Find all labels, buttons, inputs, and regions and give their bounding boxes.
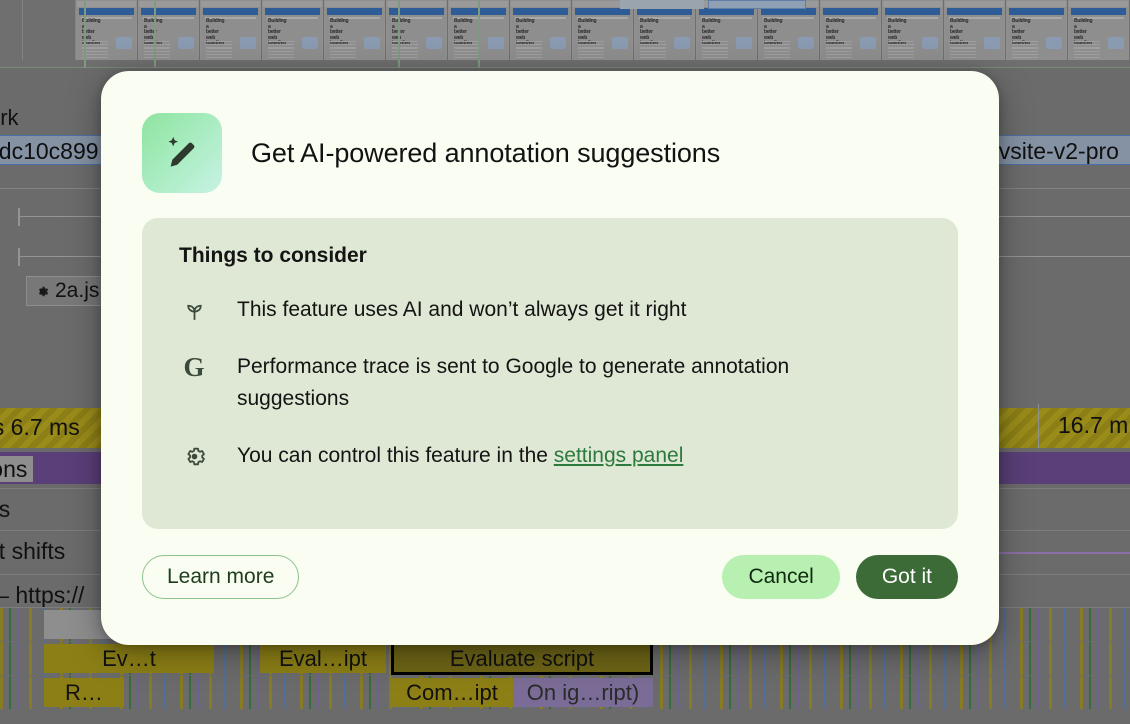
list-item: This feature uses AI and won’t always ge… <box>179 294 921 326</box>
filmstrip-thumbnail[interactable]: Buildingabetterwebtogether <box>758 0 819 60</box>
flame-block[interactable]: Ev…t <box>44 644 214 673</box>
layout-shifts-track-label: ut shifts <box>0 538 65 565</box>
filmstrip-thumbnail[interactable]: Buildingabetterwebtogether <box>572 0 633 60</box>
filmstrip-marker <box>154 0 156 68</box>
consider-item-text-before: You can control this feature in the <box>237 444 554 467</box>
dialog-actions: Learn more Cancel Got it <box>142 555 958 599</box>
filmstrip-thumbnail[interactable]: Buildingabetterwebtogether <box>386 0 447 60</box>
filmstrip-thumbnail[interactable]: Buildingabetterwebtogether <box>1006 0 1067 60</box>
got-it-button[interactable]: Got it <box>856 555 958 599</box>
list-item: You can control this feature in the sett… <box>179 440 921 472</box>
gear-icon <box>35 284 50 299</box>
primary-actions: Cancel Got it <box>722 555 958 599</box>
filmstrip-selection-secondary <box>620 0 704 9</box>
filmstrip-spacer <box>0 0 23 60</box>
filmstrip-marker <box>478 0 480 68</box>
dialog-header: Get AI-powered annotation suggestions <box>142 101 958 205</box>
timeline-tick <box>18 248 20 266</box>
filmstrip-thumbnail[interactable]: Buildingabetterwebtogether <box>510 0 571 60</box>
consider-item-text: You can control this feature in the sett… <box>237 440 683 472</box>
filmstrip-spacer <box>23 0 76 60</box>
consider-list: This feature uses AI and won’t always ge… <box>179 294 921 472</box>
filmstrip-thumbnail[interactable]: Buildingabetterwebtogether <box>634 0 695 60</box>
script-chip[interactable]: 2a.js <box>26 276 108 306</box>
duration-label: 16.7 m <box>1058 412 1128 439</box>
dialog-title: Get AI-powered annotation suggestions <box>251 138 720 169</box>
flame-block[interactable]: Com…ipt <box>391 678 513 707</box>
filmstrip-thumbnail[interactable]: Buildingabetterwebtogether <box>1068 0 1129 60</box>
filmstrip-thumbnails[interactable]: BuildingabetterwebtogetherBuildingabette… <box>76 0 1130 60</box>
network-request-name-right: evsite-v2-pro <box>986 138 1119 165</box>
timings-track-label: gs <box>0 496 10 523</box>
timeline-tick <box>18 208 20 226</box>
filmstrip-track[interactable]: BuildingabetterwebtogetherBuildingabette… <box>0 0 1130 68</box>
ai-annotation-suggestions-dialog: Get AI-powered annotation suggestions Th… <box>101 71 999 645</box>
ai-pencil-sparkle-icon <box>142 113 222 193</box>
animations-track-label: ations <box>0 456 33 482</box>
sprout-icon <box>179 295 209 325</box>
subevent-row[interactable]: R…Com…iptOn ig…ript) <box>0 676 1130 709</box>
list-item: G Performance trace is sent to Google to… <box>179 351 921 415</box>
filmstrip-marker <box>398 0 400 68</box>
network-section-label: ork <box>0 105 19 131</box>
learn-more-button[interactable]: Learn more <box>142 555 299 599</box>
things-to-consider-heading: Things to consider <box>179 244 921 268</box>
flame-block[interactable]: Eval…ipt <box>260 644 386 673</box>
filmstrip-thumbnail[interactable]: Buildingabetterwebtogether <box>138 0 199 60</box>
event-row[interactable]: Ev…tEval…iptEvaluate script <box>0 642 1130 675</box>
yellow-track-label: es 6.7 ms <box>0 414 80 441</box>
flame-block[interactable]: R… <box>44 678 124 707</box>
filmstrip-thumbnail[interactable]: Buildingabetterwebtogether <box>882 0 943 60</box>
filmstrip-thumbnail[interactable]: Buildingabetterwebtogether <box>324 0 385 60</box>
filmstrip-thumbnail[interactable]: Buildingabetterwebtogether <box>820 0 881 60</box>
cancel-button[interactable]: Cancel <box>722 555 839 599</box>
consider-item-text: Performance trace is sent to Google to g… <box>237 351 877 415</box>
google-g-icon: G <box>179 352 209 382</box>
filmstrip-thumbnail[interactable]: Buildingabetterwebtogether <box>262 0 323 60</box>
script-chip-label: 2a.js <box>55 279 99 303</box>
gear-icon <box>179 441 209 471</box>
consider-item-text: This feature uses AI and won’t always ge… <box>237 294 686 326</box>
screen: BuildingabetterwebtogetherBuildingabette… <box>0 0 1130 724</box>
frames-track-label: — https:// <box>0 582 84 609</box>
filmstrip-selection[interactable] <box>708 0 806 9</box>
filmstrip-thumbnail[interactable]: Buildingabetterwebtogether <box>696 0 757 60</box>
settings-panel-link[interactable]: settings panel <box>554 444 684 467</box>
filmstrip-marker <box>84 0 86 68</box>
things-to-consider-panel: Things to consider This feature uses AI … <box>142 218 958 529</box>
network-request-name-left: 5dc10c899 <box>0 138 99 165</box>
filmstrip-thumbnail[interactable]: Buildingabetterwebtogether <box>944 0 1005 60</box>
filmstrip-thumbnail[interactable]: Buildingabetterwebtogether <box>200 0 261 60</box>
flame-block[interactable]: Evaluate script <box>391 642 653 675</box>
flame-block[interactable]: On ig…ript) <box>513 678 653 707</box>
